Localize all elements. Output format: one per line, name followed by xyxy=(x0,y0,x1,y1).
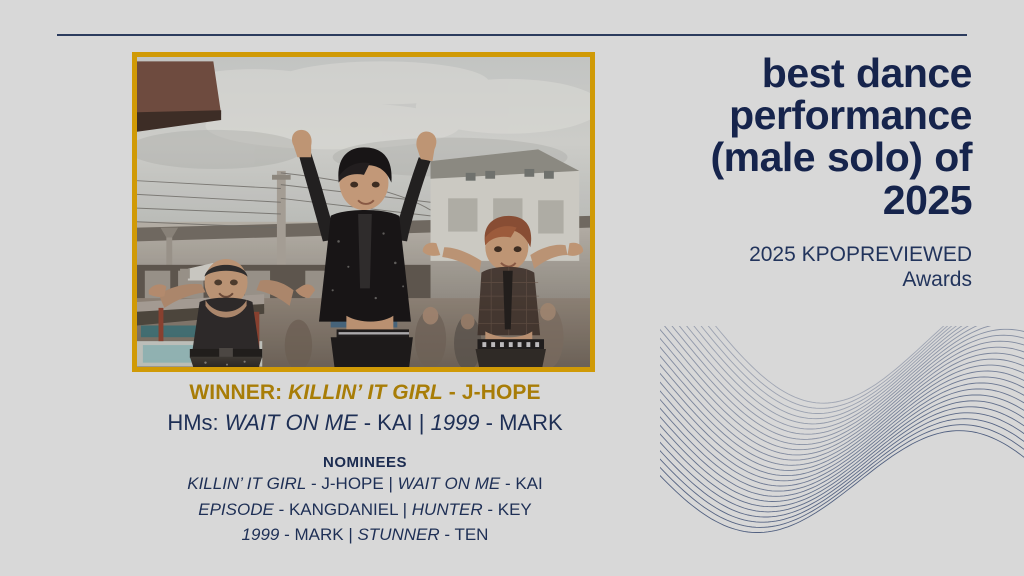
award-subtitle-line-1: 2025 KPOPREVIEWED xyxy=(620,243,972,268)
award-title-line-4: 2025 xyxy=(620,179,972,221)
nominee-artist: - TEN xyxy=(440,525,489,544)
nominee-artist: - KANGDANIEL | xyxy=(274,500,412,519)
hm-artist-1: - KAI | xyxy=(358,410,431,435)
award-title-line-3: (male solo) of xyxy=(620,136,972,178)
winner-song-title: KILLIN’ IT GIRL xyxy=(288,381,443,404)
nominees-heading: NOMINEES xyxy=(60,454,670,471)
nominee-song-title: KILLIN’ IT GIRL xyxy=(187,474,306,493)
nominee-song-title: WAIT ON ME xyxy=(398,474,501,493)
award-subtitle: 2025 KPOPREVIEWED Awards xyxy=(620,243,972,293)
nominee-song-title: HUNTER xyxy=(412,500,483,519)
nominee-song-title: STUNNER xyxy=(357,525,439,544)
winner-prefix: WINNER: xyxy=(189,381,288,404)
winner-photo xyxy=(137,57,590,367)
results-block: WINNER: KILLIN’ IT GIRL - J-HOPE HMs: WA… xyxy=(60,380,670,547)
nominee-artist: - J-HOPE | xyxy=(306,474,397,493)
top-divider xyxy=(57,34,967,36)
nominee-artist: - KAI xyxy=(500,474,543,493)
nominee-song-title: EPISODE xyxy=(198,500,274,519)
hm-song-title-1: WAIT ON ME xyxy=(225,410,358,435)
title-block: best dance performance (male solo) of 20… xyxy=(620,52,972,292)
nominee-artist: - MARK | xyxy=(279,525,357,544)
nominee-artist: - KEY xyxy=(483,500,532,519)
winner-line: WINNER: KILLIN’ IT GIRL - J-HOPE xyxy=(60,380,670,407)
award-title: best dance performance (male solo) of 20… xyxy=(620,52,972,221)
nominee-line: EPISODE - KANGDANIEL | HUNTER - KEY xyxy=(60,497,670,522)
nominee-song-title: 1999 xyxy=(242,525,280,544)
hm-song-title-2: 1999 xyxy=(431,410,480,435)
decorative-wave-pattern xyxy=(660,326,1024,576)
award-title-line-2: performance xyxy=(620,94,972,136)
nominee-line: 1999 - MARK | STUNNER - TEN xyxy=(60,522,670,547)
award-card: best dance performance (male solo) of 20… xyxy=(0,0,1024,576)
winner-photo-frame xyxy=(132,52,595,372)
hm-artist-2: - MARK xyxy=(480,410,563,435)
honorable-mentions-line: HMs: WAIT ON ME - KAI | 1999 - MARK xyxy=(60,409,670,438)
hm-prefix: HMs: xyxy=(167,410,224,435)
nominee-line: KILLIN’ IT GIRL - J-HOPE | WAIT ON ME - … xyxy=(60,471,670,496)
award-title-line-1: best dance xyxy=(620,52,972,94)
award-subtitle-line-2: Awards xyxy=(620,268,972,293)
winner-artist: - J-HOPE xyxy=(443,381,541,404)
